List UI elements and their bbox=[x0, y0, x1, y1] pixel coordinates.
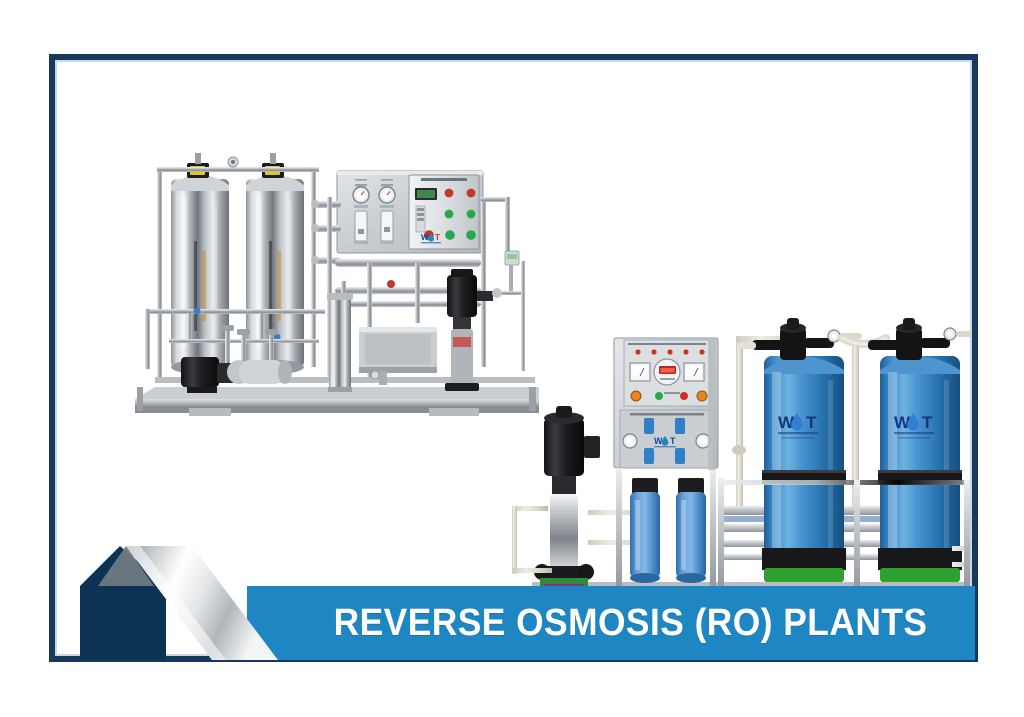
ro-plant-skid-stainless-photo: W T bbox=[129, 141, 549, 437]
svg-text:T: T bbox=[806, 413, 817, 432]
pressure-filter-vessel bbox=[171, 175, 229, 374]
svg-text:T: T bbox=[435, 233, 440, 242]
frp-pressure-vessel: W T bbox=[878, 356, 962, 582]
digital-display bbox=[654, 359, 680, 385]
cartridge-filter-housing bbox=[676, 478, 706, 583]
indicator-light-green bbox=[445, 210, 454, 219]
valve-knob-blue bbox=[644, 418, 654, 434]
panel-meter bbox=[684, 363, 704, 381]
pressure-gauge bbox=[696, 434, 710, 448]
svg-text:T: T bbox=[670, 436, 676, 446]
indicator-light-green bbox=[467, 210, 476, 219]
frp-pressure-vessel: W T bbox=[762, 356, 846, 582]
valve-handle-red bbox=[387, 280, 395, 288]
title-banner: REVERSE OSMOSIS (RO) PLANTS bbox=[247, 586, 975, 660]
indicator-light-green bbox=[445, 230, 455, 240]
push-button-red bbox=[680, 392, 688, 400]
digital-display bbox=[415, 188, 437, 200]
svg-text:W: W bbox=[421, 233, 429, 242]
rotameter-flow-meter bbox=[354, 205, 368, 244]
rotameter-flow-meter bbox=[380, 205, 394, 244]
micron-cartridge-filter bbox=[327, 293, 353, 392]
panel-meter bbox=[630, 363, 650, 381]
brand-logo-wet: W T bbox=[654, 436, 676, 447]
product-catalog-page: W T bbox=[0, 0, 1024, 717]
push-button-green bbox=[655, 392, 663, 400]
multiport-valve-head bbox=[262, 153, 284, 178]
photo-canvas: W T bbox=[57, 62, 970, 654]
pressure-filter-vessel bbox=[246, 175, 304, 374]
svg-text:W: W bbox=[654, 436, 663, 446]
cartridge-filter-housing bbox=[630, 478, 660, 583]
indicator-light-red bbox=[445, 189, 454, 198]
page-title: REVERSE OSMOSIS (RO) PLANTS bbox=[272, 586, 949, 660]
multiport-valve-head bbox=[187, 153, 209, 178]
control-panel: W T bbox=[337, 171, 483, 253]
push-button-orange bbox=[697, 391, 707, 401]
valve-knob-blue bbox=[675, 448, 685, 464]
indicator-light-red bbox=[467, 189, 476, 198]
valve-knob-blue bbox=[675, 418, 685, 434]
pressure-gauge bbox=[623, 434, 637, 448]
side-instrument bbox=[492, 251, 525, 371]
push-button-orange bbox=[631, 391, 641, 401]
svg-text:T: T bbox=[922, 413, 933, 432]
valve-knob-blue bbox=[644, 448, 654, 464]
indicator-light-green bbox=[466, 230, 476, 240]
